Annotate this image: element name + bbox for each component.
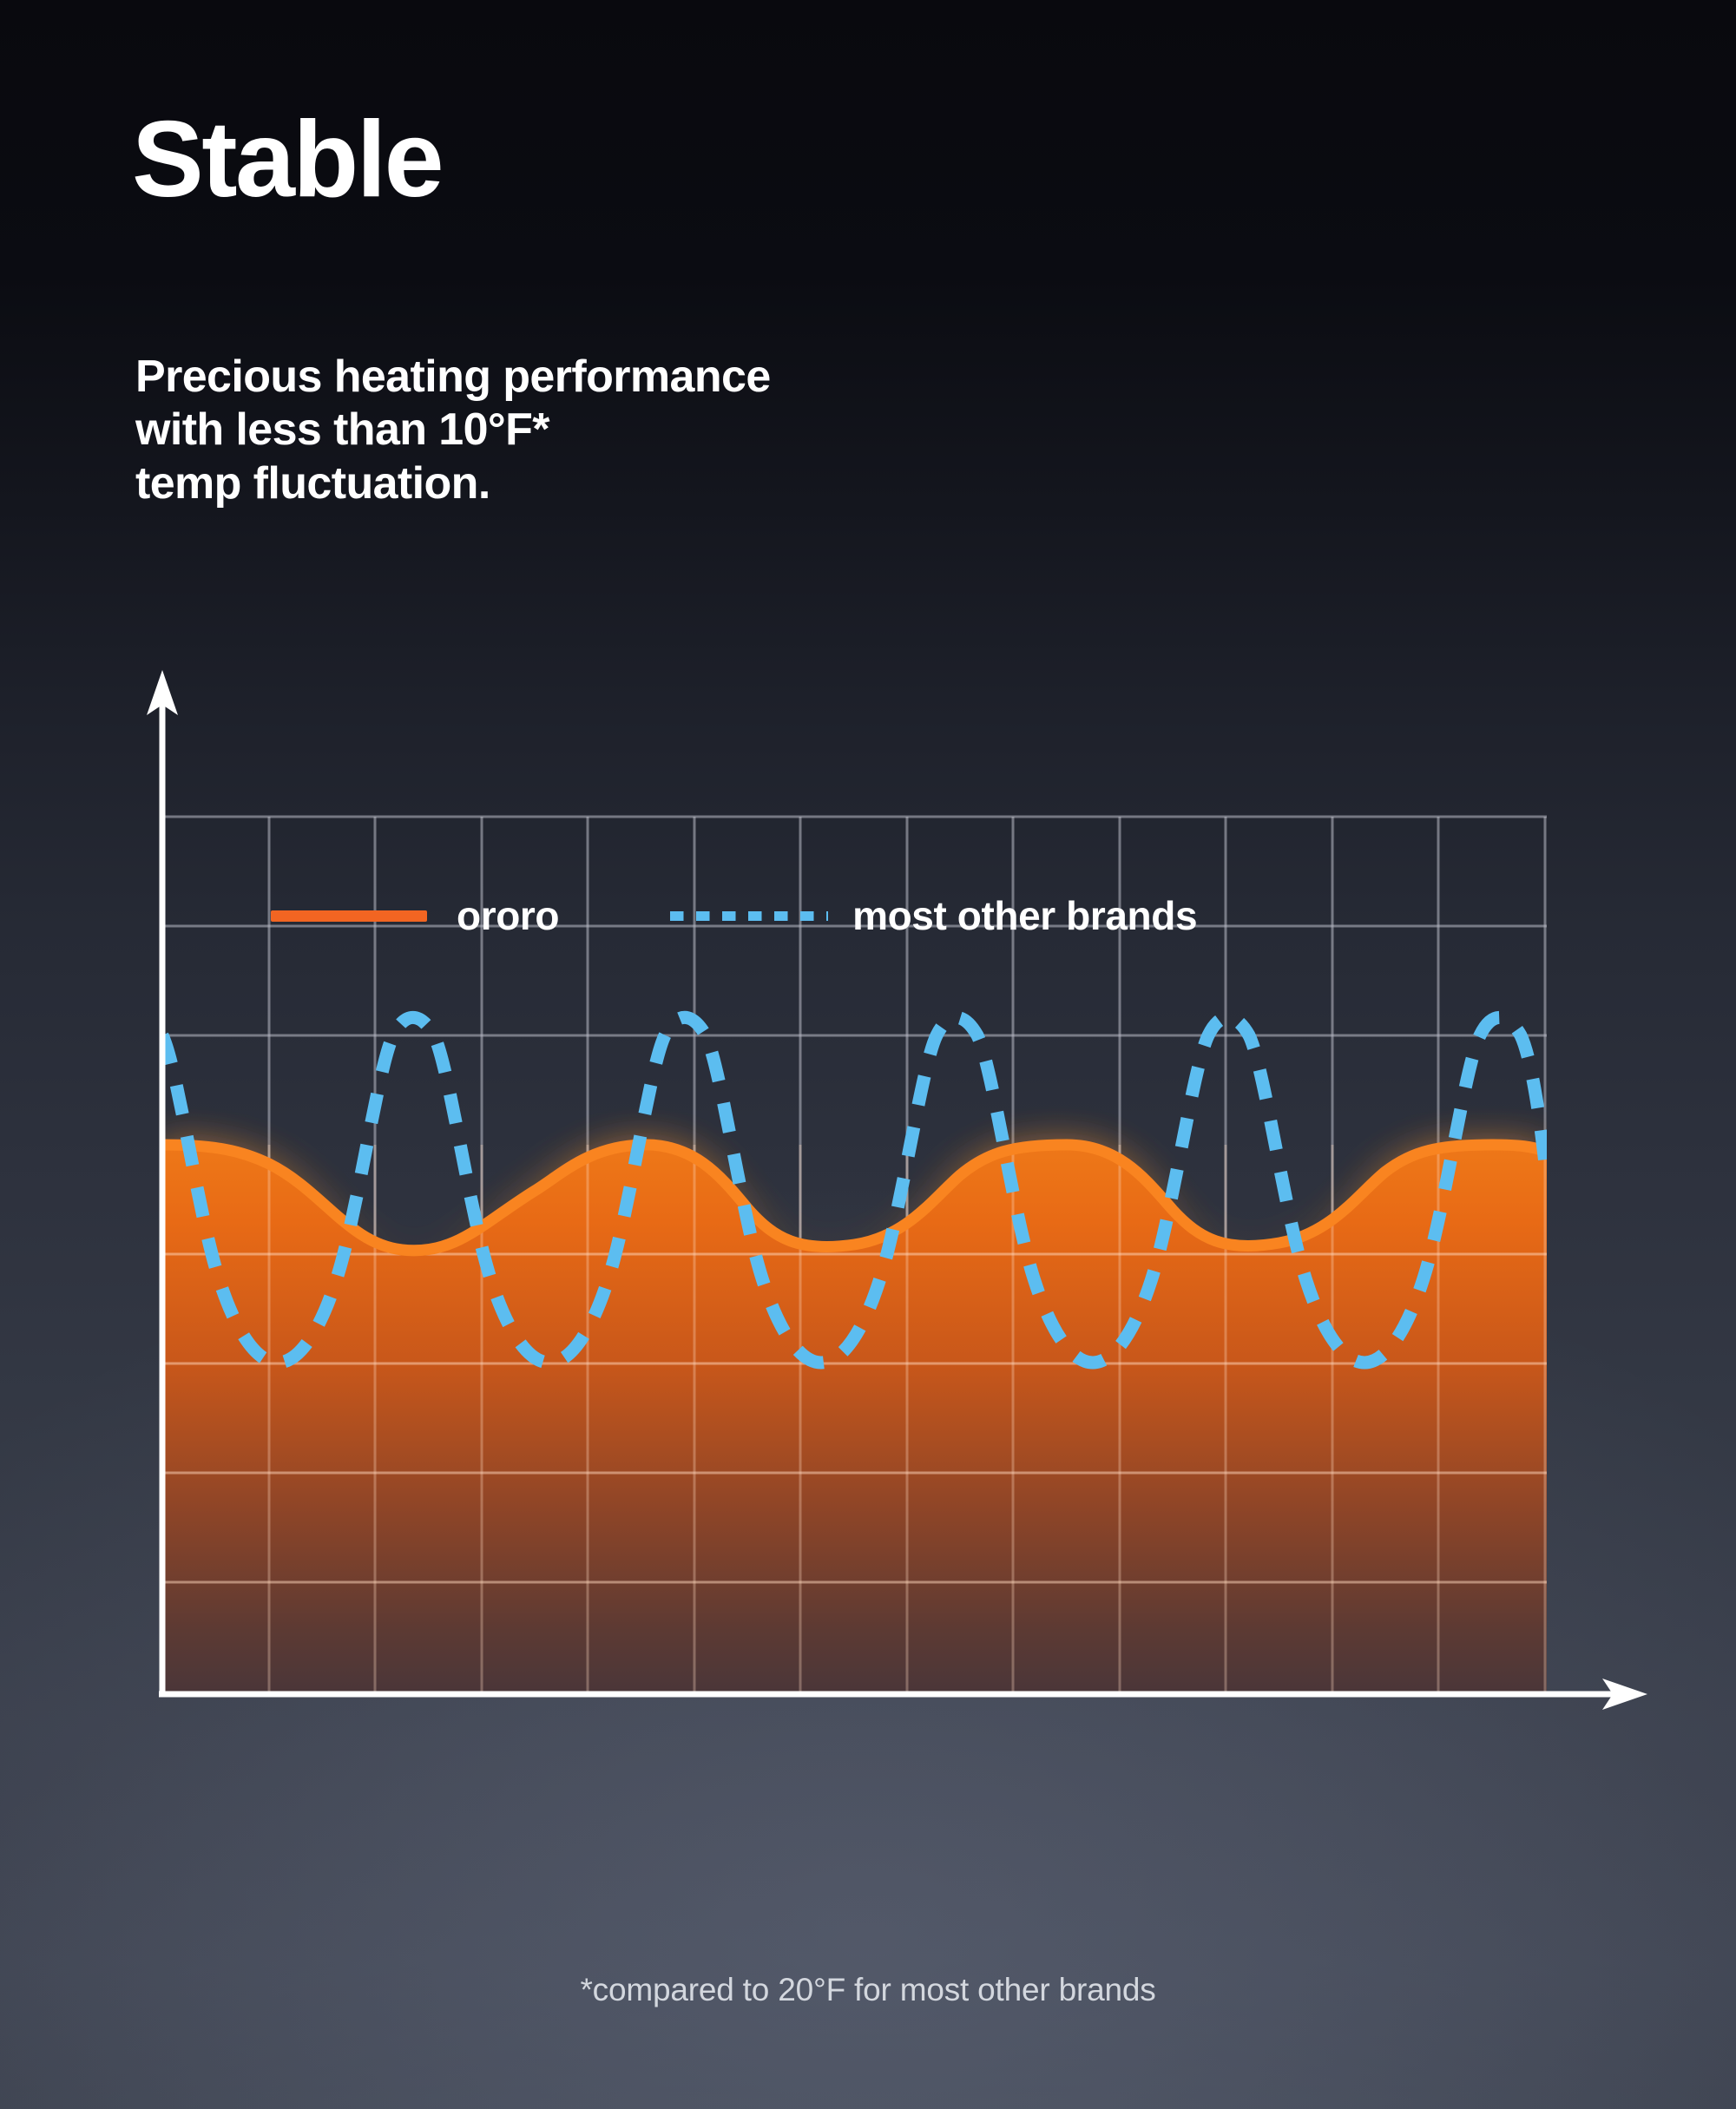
subheadline: Precious heating performance with less t… — [135, 351, 771, 510]
promo-infographic: Stable Precious heating performance with… — [0, 0, 1736, 2109]
page-title: Stable — [132, 106, 442, 214]
temperature-fluctuation-chart — [0, 660, 1736, 1753]
footnote-text: *compared to 20°F for most other brands — [0, 1972, 1736, 2008]
chart-canvas — [0, 660, 1736, 1753]
series-ororo-area — [162, 1145, 1547, 1694]
grid-horizontal-upper — [162, 817, 1547, 1035]
